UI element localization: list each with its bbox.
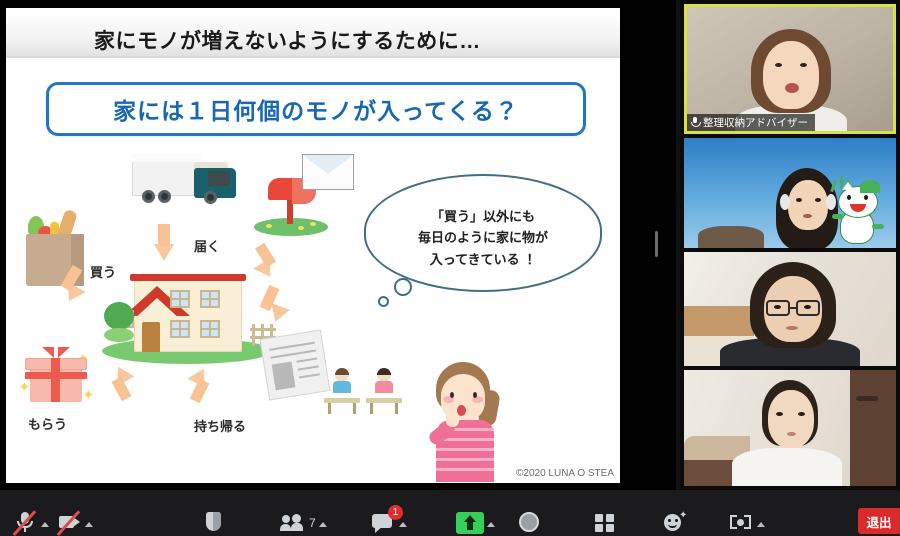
chat-icon: 1 [370,510,396,534]
chat-button[interactable]: 1 [370,510,407,534]
participant-name: 整理収納アドバイザー [703,115,808,130]
apps-caret[interactable] [757,522,765,527]
apps-button[interactable] [728,510,765,534]
slide-subtitle-box: 家には１日何個のモノが入ってくる？ [46,82,586,136]
delivery-truck-icon [132,150,244,218]
thought-bubble: 「買う」以外にも 毎日のように家に物が 入ってきている ！ [364,174,602,302]
thinking-girl-icon [422,362,514,482]
slide-copyright: ©2020 LUNA O STEA [516,468,614,479]
slide-subtitle: 家には１日何個のモノが入ってくる？ [113,92,519,126]
label-bring-home: 持ち帰る [194,416,246,435]
mute-button[interactable] [12,510,49,534]
video-button[interactable] [56,510,93,534]
gift-box-icon: ✦ ✦ ✦ [24,348,88,404]
video-options-caret[interactable] [85,522,93,527]
participants-count: 7 [309,516,316,530]
shared-screen-stage[interactable]: 家にモノが増えないようにするために… 家には１日何個のモノが入ってくる？ 買う [0,0,676,490]
presentation-slide: 家にモノが増えないようにするために… 家には１日何個のモノが入ってくる？ 買う [6,8,620,483]
share-screen-icon [456,512,484,534]
shield-icon [200,510,226,534]
school-desk-icon [324,362,408,420]
chat-caret[interactable] [399,522,407,527]
share-screen-button[interactable] [456,512,495,534]
envelope-icon [302,154,354,190]
participants-button[interactable]: 7 [280,510,327,534]
slide-illustration: 買う 届く [6,140,620,483]
stage-resize-handle[interactable] [655,231,658,257]
view-button[interactable] [592,510,618,534]
microphone-muted-icon [12,510,38,534]
label-receive: もらう [28,414,67,433]
newspaper-icon [260,330,331,401]
video-tile-participant-3[interactable] [684,252,896,366]
video-tile-participant-4[interactable] [684,370,896,486]
camera-off-icon [56,510,82,534]
reactions-button[interactable]: ✦ [662,510,688,534]
breakout-rooms-icon [728,510,754,534]
microphone-icon [691,117,699,128]
meeting-toolbar: 7 1 [0,490,900,536]
slide-title: 家にモノが増えないようにするために… [94,25,481,55]
house-icon [102,266,272,370]
chat-unread-badge: 1 [388,505,403,520]
participants-caret[interactable] [319,522,327,527]
audio-options-caret[interactable] [41,522,49,527]
share-options-caret[interactable] [487,522,495,527]
video-tile-active-speaker[interactable]: 整理収納アドバイザー [684,4,896,134]
video-tile-participant-2[interactable] [684,138,896,248]
participant-name-tag: 整理収納アドバイザー [687,114,815,131]
record-button[interactable] [516,510,542,534]
label-deliver: 届く [194,236,220,255]
grid-view-icon [592,510,618,534]
participants-icon [280,510,306,534]
record-icon [516,510,542,534]
thought-bubble-text: 「買う」以外にも 毎日のように家に物が 入ってきている ！ [364,206,602,270]
security-button[interactable] [200,510,226,534]
leave-meeting-button[interactable]: 退出 [858,508,900,534]
participant-video-strip: 整理収納アドバイザー [680,0,900,490]
zoom-meeting-window: 家にモノが増えないようにするために… 家には１日何個のモノが入ってくる？ 買う [0,0,900,536]
reactions-smiley-icon: ✦ [662,510,688,534]
